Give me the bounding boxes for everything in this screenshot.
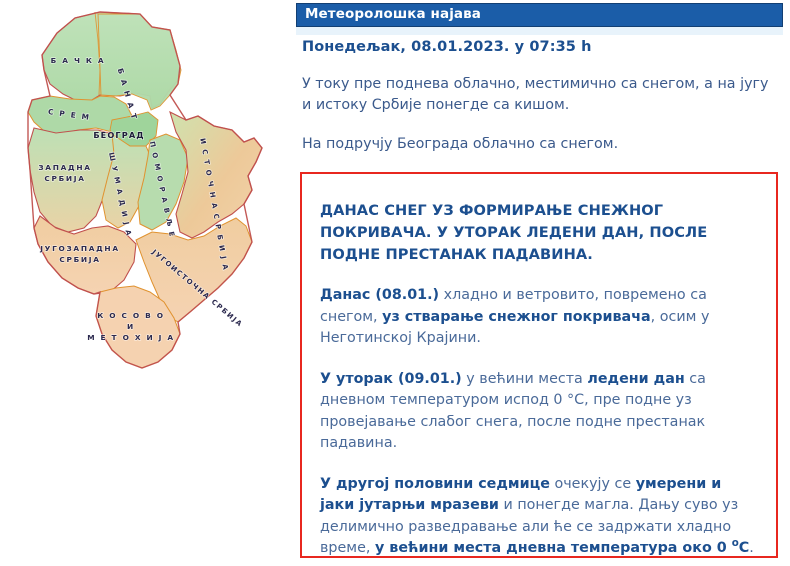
map-label-kosovo-3: М Е Т О Х И Ј А bbox=[87, 333, 175, 342]
intro-paragraph-1: У току пре поднева облачно, местимично с… bbox=[302, 74, 780, 116]
forecast-content: Метеоролошка најава Понедељак, 08.01.202… bbox=[296, 0, 790, 566]
alert-paragraph-second-half-week: У другој половини седмице очекују се уме… bbox=[320, 474, 760, 560]
emphasis-run: ледени дан bbox=[587, 371, 684, 387]
map-label-zapadna-srbija-2: СРБИЈА bbox=[44, 174, 85, 183]
emphasis-run: У уторак (09.01.) bbox=[320, 371, 462, 387]
map-label-zapadna-srbija: ЗАПАДНА bbox=[38, 163, 91, 172]
emphasis-run: у већини места дневна температура око 0 … bbox=[375, 540, 749, 556]
title-underbar bbox=[296, 27, 783, 35]
page-title: Метеоролошка најава bbox=[297, 8, 481, 22]
intro-paragraph-2: На подручју Београда облачно са снегом. bbox=[302, 134, 780, 155]
page-title-bar: Метеоролошка најава bbox=[296, 3, 783, 27]
weather-alert-box: ДАНАС СНЕГ УЗ ФОРМИРАЊЕ СНЕЖНОГ ПОКРИВАЧ… bbox=[300, 172, 778, 558]
alert-paragraph-today: Данас (08.01.) хладно и ветровито, повре… bbox=[320, 285, 760, 350]
serbia-regions-map: Б А Ч К А Б А Н А Т С Р Е М БЕОГРАД ЗАПА… bbox=[0, 0, 292, 566]
emphasis-run: уз стварање снежног покривача bbox=[382, 309, 651, 325]
alert-headline: ДАНАС СНЕГ УЗ ФОРМИРАЊЕ СНЕЖНОГ ПОКРИВАЧ… bbox=[320, 200, 760, 266]
degree-symbol: o bbox=[732, 537, 739, 549]
emphasis-run: Данас (08.01.) bbox=[320, 287, 439, 303]
map-label-beograd: БЕОГРАД bbox=[93, 130, 144, 140]
map-label-backa: Б А Ч К А bbox=[51, 56, 106, 65]
map-label-kosovo: К О С О В О bbox=[97, 311, 165, 320]
map-region-banat bbox=[98, 14, 181, 110]
emphasis-run: У другој половини седмице bbox=[320, 476, 550, 492]
map-panel: Б А Ч К А Б А Н А Т С Р Е М БЕОГРАД ЗАПА… bbox=[0, 0, 292, 566]
forecast-timestamp: Понедељак, 08.01.2023. у 07:35 h bbox=[302, 39, 772, 55]
map-label-jugozapadna-2: СРБИЈА bbox=[59, 255, 100, 264]
map-label-jugozapadna: ЈУГОЗАПАДНА bbox=[39, 244, 120, 253]
weather-forecast-page: Б А Ч К А Б А Н А Т С Р Е М БЕОГРАД ЗАПА… bbox=[0, 0, 790, 566]
map-label-kosovo-2: И bbox=[127, 322, 135, 331]
alert-paragraph-tuesday: У уторак (09.01.) у већини места ледени … bbox=[320, 369, 760, 455]
